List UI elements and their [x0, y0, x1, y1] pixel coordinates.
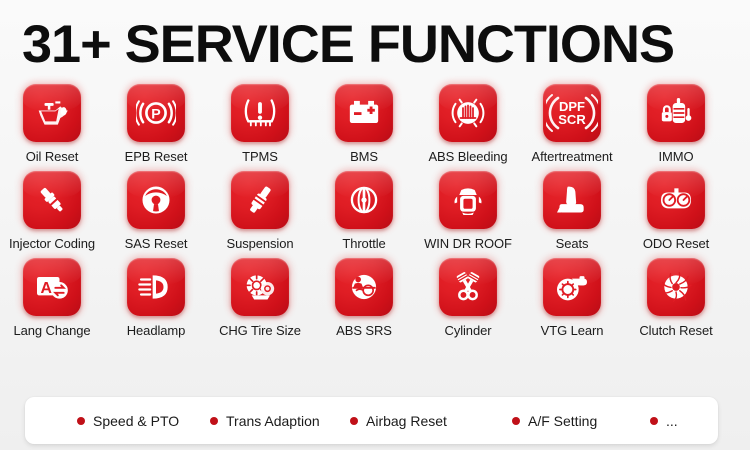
service-function-label: Headlamp [127, 323, 185, 338]
service-function-item[interactable]: CHG Tire Size [208, 258, 312, 338]
service-function-item[interactable]: Clutch Reset [624, 258, 728, 338]
service-function-item[interactable]: VTG Learn [520, 258, 624, 338]
service-function-label: IMMO [659, 149, 694, 164]
additional-function-label: Speed & PTO [93, 413, 179, 429]
svg-text:A: A [40, 280, 52, 297]
car-seat-icon[interactable] [543, 171, 601, 229]
additional-function-item[interactable]: Airbag Reset [350, 413, 447, 429]
scr-text: SCR [558, 113, 585, 126]
service-function-item[interactable]: Seats [520, 171, 624, 251]
service-function-item[interactable]: ABS Bleeding [416, 84, 520, 164]
service-function-item[interactable]: Throttle [312, 171, 416, 251]
dpf-text: DPF [558, 100, 585, 113]
service-function-label: CHG Tire Size [219, 323, 301, 338]
service-function-item[interactable]: Suspension [208, 171, 312, 251]
bullet-dot-icon [650, 417, 658, 425]
service-functions-row: Oil ResetPEPB ResetTPMSBMSABS BleedingDP… [0, 84, 750, 164]
shock-absorber-icon[interactable] [231, 171, 289, 229]
clutch-disc-icon[interactable] [647, 258, 705, 316]
headlamp-icon[interactable] [127, 258, 185, 316]
service-function-label: Clutch Reset [639, 323, 712, 338]
throttle-body-icon[interactable] [335, 171, 393, 229]
service-functions-row: ALang ChangeHeadlampCHG Tire SizeABS SRS… [0, 258, 750, 338]
odometer-cluster-icon[interactable] [647, 171, 705, 229]
service-function-label: ABS Bleeding [428, 149, 507, 164]
abs-bleeding-icon[interactable] [439, 84, 497, 142]
fuel-injector-icon[interactable] [23, 171, 81, 229]
epb-parking-brake-icon[interactable]: P [127, 84, 185, 142]
tire-size-icon[interactable] [231, 258, 289, 316]
service-function-item[interactable]: ODO Reset [624, 171, 728, 251]
service-function-item[interactable]: ABS SRS [312, 258, 416, 338]
additional-function-item[interactable]: ... [650, 413, 678, 429]
service-function-label: WIN DR ROOF [424, 236, 512, 251]
language-change-icon[interactable]: A [23, 258, 81, 316]
svg-text:P: P [151, 106, 160, 122]
service-function-item[interactable]: Cylinder [416, 258, 520, 338]
service-function-item[interactable]: WIN DR ROOF [416, 171, 520, 251]
service-function-label: Cylinder [445, 323, 492, 338]
service-function-item[interactable]: DPFSCRAftertreatment [520, 84, 624, 164]
steering-wheel-icon[interactable] [127, 171, 185, 229]
service-function-label: EPB Reset [125, 149, 188, 164]
service-function-label: VTG Learn [541, 323, 604, 338]
additional-function-item[interactable]: A/F Setting [512, 413, 597, 429]
service-function-label: Throttle [342, 236, 385, 251]
additional-function-label: Trans Adaption [226, 413, 320, 429]
service-function-item[interactable]: PEPB Reset [104, 84, 208, 164]
service-function-label: ODO Reset [643, 236, 709, 251]
additional-function-label: A/F Setting [528, 413, 597, 429]
service-function-label: BMS [350, 149, 378, 164]
additional-functions-bar: Speed & PTOTrans AdaptionAirbag ResetA/F… [25, 397, 718, 444]
dpf-scr-icon[interactable]: DPFSCR [543, 84, 601, 142]
bullet-dot-icon [77, 417, 85, 425]
tire-pressure-icon[interactable] [231, 84, 289, 142]
immobilizer-key-icon[interactable] [647, 84, 705, 142]
abs-srs-airbag-icon[interactable] [335, 258, 393, 316]
bullet-dot-icon [512, 417, 520, 425]
service-function-item[interactable]: IMMO [624, 84, 728, 164]
additional-function-item[interactable]: Trans Adaption [210, 413, 320, 429]
car-top-view-icon[interactable] [439, 171, 497, 229]
service-function-item[interactable]: ALang Change [0, 258, 104, 338]
service-function-label: Suspension [227, 236, 294, 251]
turbocharger-icon[interactable] [543, 258, 601, 316]
service-function-label: Oil Reset [26, 149, 79, 164]
service-function-item[interactable]: SAS Reset [104, 171, 208, 251]
service-function-item[interactable]: Headlamp [104, 258, 208, 338]
bullet-dot-icon [210, 417, 218, 425]
service-function-label: Aftertreatment [532, 149, 613, 164]
battery-icon[interactable] [335, 84, 393, 142]
service-function-label: TPMS [242, 149, 278, 164]
service-functions-row: Injector CodingSAS ResetSuspensionThrott… [0, 171, 750, 251]
service-functions-poster: 31+ SERVICE FUNCTIONS Oil ResetPEPB Rese… [0, 0, 750, 450]
piston-cylinder-icon[interactable] [439, 258, 497, 316]
service-function-item[interactable]: Injector Coding [0, 171, 104, 251]
service-function-item[interactable]: TPMS [208, 84, 312, 164]
bullet-dot-icon [350, 417, 358, 425]
service-function-item[interactable]: Oil Reset [0, 84, 104, 164]
oil-can-icon[interactable] [23, 84, 81, 142]
additional-function-label: ... [666, 413, 678, 429]
service-function-label: SAS Reset [125, 236, 188, 251]
service-function-label: Lang Change [14, 323, 91, 338]
service-function-label: ABS SRS [336, 323, 392, 338]
service-function-item[interactable]: BMS [312, 84, 416, 164]
page-title: 31+ SERVICE FUNCTIONS [22, 14, 748, 76]
service-function-label: Seats [556, 236, 589, 251]
additional-function-item[interactable]: Speed & PTO [77, 413, 179, 429]
additional-function-label: Airbag Reset [366, 413, 447, 429]
service-functions-grid: Oil ResetPEPB ResetTPMSBMSABS BleedingDP… [0, 84, 750, 345]
service-function-label: Injector Coding [9, 236, 95, 251]
